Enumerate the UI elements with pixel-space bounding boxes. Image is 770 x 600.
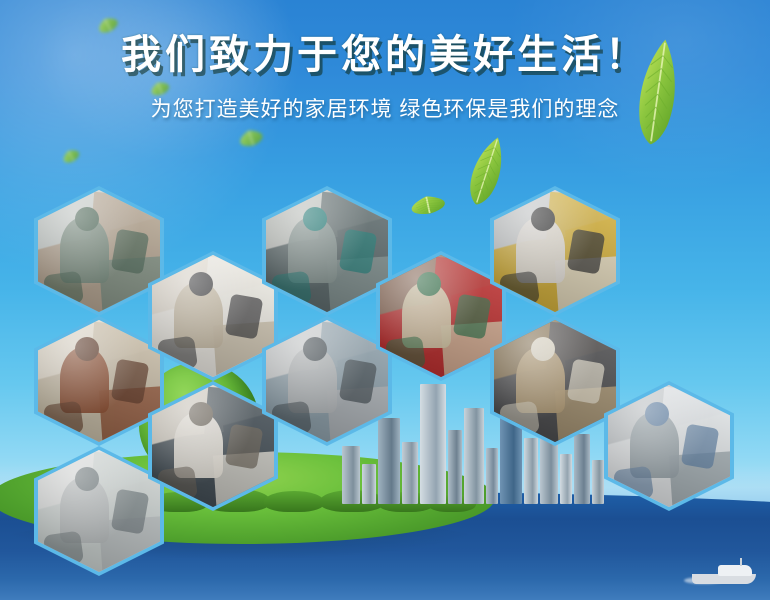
hex-photo-image (38, 190, 160, 312)
skyline-building (560, 454, 572, 504)
hex-photo-inner (266, 190, 388, 312)
sun-glow-secondary (40, 0, 300, 160)
boat-mast (740, 558, 742, 566)
photo-lighting-wash (38, 450, 160, 572)
hex-photo-inner (152, 255, 274, 377)
skyline-building (342, 446, 360, 504)
hex-photo-inner (38, 320, 160, 442)
hex-photo-exterior-wall[interactable] (34, 446, 164, 576)
hex-photo-duct-cleaning[interactable] (262, 186, 392, 316)
skyline-building (402, 442, 418, 504)
hex-photo-railing-painting[interactable] (34, 316, 164, 446)
photo-lighting-wash (152, 385, 274, 507)
shrub (428, 494, 476, 512)
shrub (378, 492, 434, 512)
hex-photo-roof-cleaning[interactable] (604, 381, 734, 511)
leaf-mid-center-icon (405, 192, 452, 219)
photo-lighting-wash (380, 255, 502, 377)
promo-banner: 我们致力于您的美好生活！ 为您打造美好的家居环境 绿色环保是我们的理念 (0, 0, 770, 600)
hex-photo-inner (266, 320, 388, 442)
skyline-building (524, 438, 538, 504)
hex-photo-wall-plastering[interactable] (34, 186, 164, 316)
hex-photo-inner (494, 190, 616, 312)
photo-lighting-wash (266, 320, 388, 442)
hex-photo-image (608, 385, 730, 507)
photo-lighting-wash (608, 385, 730, 507)
hex-photo-image (266, 320, 388, 442)
skyline-building (592, 460, 604, 504)
photo-lighting-wash (38, 320, 160, 442)
boat-wake (684, 577, 724, 584)
skyline-building (420, 384, 446, 504)
hex-photo-inner (608, 385, 730, 507)
skyline-building (378, 418, 400, 504)
photo-lighting-wash (494, 190, 616, 312)
banner-headline: 我们致力于您的美好生活！ (0, 32, 770, 78)
skyline-building (574, 434, 590, 504)
leaf-large-center-icon (460, 132, 515, 211)
hex-photo-image (152, 255, 274, 377)
hex-photo-carpet-washing[interactable] (376, 251, 506, 381)
hex-photo-image (38, 450, 160, 572)
photo-lighting-wash (152, 255, 274, 377)
hex-photo-image (380, 255, 502, 377)
photo-lighting-wash (266, 190, 388, 312)
hex-photo-chandelier[interactable] (148, 381, 278, 511)
hex-photo-inner (494, 320, 616, 442)
hex-photo-floor-polishing[interactable] (490, 316, 620, 446)
hex-photo-inner (38, 450, 160, 572)
hex-photo-inner (152, 385, 274, 507)
leaf-small-midleft-icon (234, 126, 267, 150)
photo-lighting-wash (38, 190, 160, 312)
boat-icon (692, 558, 756, 584)
hex-photo-rope-access[interactable] (262, 316, 392, 446)
hex-photo-image (152, 385, 274, 507)
shrub (320, 490, 384, 512)
skyline-building (486, 448, 498, 504)
skyline-building (448, 430, 462, 504)
hex-photo-inner (38, 190, 160, 312)
hex-photo-image (266, 190, 388, 312)
hex-photo-stair-mopping[interactable] (148, 251, 278, 381)
hex-photo-kitchen-hood[interactable] (490, 186, 620, 316)
hex-photo-image (38, 320, 160, 442)
skyline-building (362, 464, 376, 504)
boat-hull (692, 574, 756, 584)
photo-lighting-wash (494, 320, 616, 442)
sun-glow-top-right (510, 0, 770, 190)
hex-photo-image (494, 190, 616, 312)
boat-deck (718, 565, 752, 576)
hex-photo-inner (380, 255, 502, 377)
hex-photo-image (494, 320, 616, 442)
leaf-small-lowerleft-icon (58, 145, 83, 166)
banner-subheadline: 为您打造美好的家居环境 绿色环保是我们的理念 (0, 96, 770, 124)
shrub (264, 491, 324, 512)
skyline-building (464, 408, 484, 504)
